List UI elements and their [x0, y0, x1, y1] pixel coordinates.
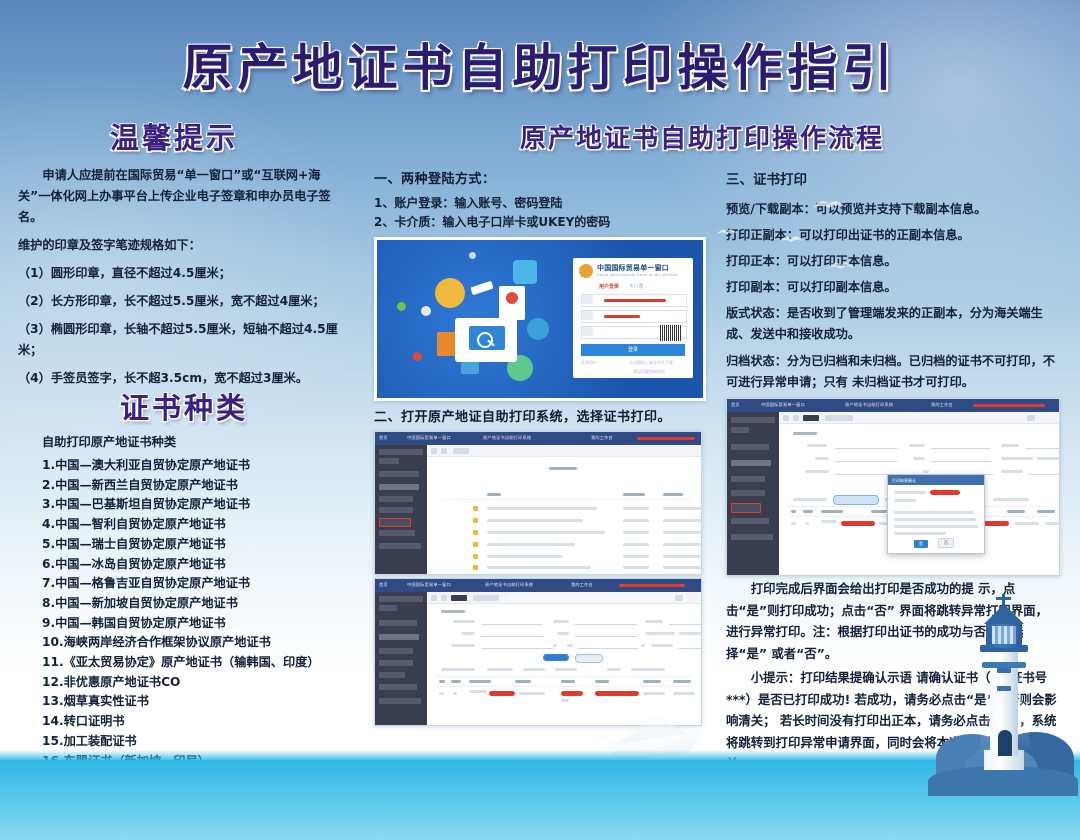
text-input[interactable] [575, 618, 637, 625]
query-button[interactable] [543, 654, 569, 661]
text-input[interactable] [575, 630, 637, 637]
lock-icon [582, 311, 593, 320]
app-content-area [427, 592, 701, 725]
row-checkbox[interactable] [791, 522, 796, 525]
column-header [663, 493, 683, 496]
screenshot-print-result-dialog[interactable]: 首页 中国国际贸易单一窗口 原产地证书自助打印系统 我的工作台 [726, 398, 1060, 576]
column-header [487, 493, 501, 496]
step-three-line: 打印正本：可以打印正本信息。 [726, 251, 1060, 272]
field-label [461, 632, 475, 635]
column-header [623, 493, 645, 496]
app-header-bar: 首页 中国国际贸易单一窗口 原产地证书自助打印系统 我的工作台 [375, 432, 701, 445]
select-input[interactable] [1029, 468, 1060, 475]
redaction-bar [930, 490, 960, 495]
table-cell-status [643, 692, 665, 695]
dialog-title-bar: 打印结果确认 [888, 475, 984, 485]
screenshot-cert-query-form[interactable]: 首页 中国国际贸易单一窗口 原产地证书自助打印系统 我的工作台 [374, 578, 702, 726]
step-three-line: 打印正副本：可以打印出证书的正副本信息。 [726, 225, 1060, 246]
list-item: 13.烟草真实性证书 [42, 692, 352, 712]
redaction-bar [637, 437, 695, 440]
login-card[interactable]: 中国国际贸易单一窗口 China International Trade Sin… [573, 258, 693, 378]
bird-icon [812, 196, 846, 212]
shield-icon [582, 327, 593, 336]
redaction-bar [561, 691, 583, 696]
notice-icon [473, 506, 478, 511]
table-cell-source [663, 507, 702, 510]
system-name-text: 原产地证书自助打印系统 [845, 402, 893, 408]
field-value [1037, 457, 1060, 460]
warm-tips-paragraph: （3）椭圆形印章，长轴不超过5.5厘米，短轴不超过4.5厘米； [18, 319, 348, 361]
action-exception-apply[interactable] [993, 498, 1029, 501]
illustration-seal [506, 292, 518, 304]
warm-tips-body: 申请人应提前在国际贸易“单一窗口”或“互联网+海关”一体化网上办事平台上传企业电… [18, 165, 348, 396]
field-label [567, 644, 573, 647]
password-field[interactable] [581, 310, 687, 323]
field-label [557, 632, 569, 635]
sidebar-item[interactable] [379, 634, 419, 640]
column-header [643, 680, 661, 683]
sidebar-item[interactable] [379, 698, 421, 704]
dialog-text [894, 491, 926, 494]
date-input[interactable] [577, 642, 639, 649]
tab-cert-print[interactable] [825, 415, 853, 421]
tab-bar[interactable] [779, 412, 1059, 424]
column-header [515, 680, 531, 683]
dialog-text [894, 532, 946, 535]
dialog-text [894, 499, 916, 502]
action-preview-download[interactable] [793, 498, 827, 501]
section-heading-cert-types: 证书种类 [120, 385, 248, 427]
poster-canvas: 原产地证书自助打印操作指引 温馨提示 申请人应提前在国际贸易“单一窗口”或“互联… [0, 0, 1080, 840]
list-item: 3.中国—巴基斯坦自贸协定原产地证书 [42, 495, 352, 515]
notice-icon [473, 518, 478, 523]
action-print-both[interactable] [833, 495, 879, 505]
field-label [1001, 444, 1019, 447]
captcha-image[interactable] [660, 325, 682, 341]
sidebar-item[interactable] [379, 620, 417, 626]
text-input[interactable] [669, 618, 702, 625]
username-field[interactable] [581, 294, 687, 307]
login-brand-title: 中国国际贸易单一窗口 [597, 263, 669, 273]
register-link[interactable]: 注册用户 [581, 360, 597, 366]
illustration-dot-red [413, 352, 422, 361]
step-three-block: 三、证书打印 预览/下载副本：可以预览并支持下载副本信息。 打印正副本：可以打印… [726, 170, 1060, 426]
tab-prev-icon[interactable] [431, 448, 437, 454]
table-cell-print-status [701, 692, 702, 695]
column-header-checkbox[interactable] [439, 680, 445, 683]
list-item: 6.中国—冰岛自贸协定原产地证书 [42, 555, 352, 575]
sidebar-item[interactable] [379, 496, 413, 502]
section-heading-warm-tips: 温馨提示 [110, 115, 238, 157]
sidebar-item-cert-print[interactable] [731, 503, 761, 513]
warm-tips-paragraph: 维护的印章及签字笔迹规格如下： [18, 235, 348, 256]
reset-button[interactable] [575, 654, 603, 663]
section-heading-workflow: 原产地证书自助打印操作流程 [520, 118, 884, 155]
text-input[interactable] [835, 455, 897, 462]
field-label [645, 632, 675, 635]
column-header [1037, 510, 1055, 513]
table-cell [561, 699, 569, 702]
step-three-heading: 三、证书打印 [726, 170, 1060, 191]
tab-bar[interactable] [427, 592, 701, 604]
tab-cert-print[interactable] [473, 595, 499, 601]
field-label [451, 644, 475, 647]
field-label [651, 644, 673, 647]
system-name-text: 原产地证书自助打印系统 [483, 435, 531, 441]
table-cell-date [623, 566, 649, 569]
app-sidebar[interactable] [727, 412, 779, 575]
warm-tips-paragraph: （2）长方形印章，长不超过5.5厘米，宽不超过4厘米； [18, 291, 348, 312]
field-label [807, 444, 827, 447]
table-cell-date [623, 555, 649, 558]
tab-home[interactable] [803, 415, 819, 421]
step-one-line: 1、账户登录：输入账号、密码登陆 [374, 194, 704, 213]
support-phone-text: 常见问题咨询电话 [633, 369, 665, 375]
table-row[interactable] [487, 555, 563, 558]
sidebar-item[interactable] [731, 417, 775, 423]
list-item: 4.中国—智利自贸协定原产地证书 [42, 515, 352, 535]
step-one-line: 2、卡介质：输入电子口岸卡或UKEY的密码 [374, 213, 704, 232]
text-input[interactable] [931, 442, 991, 449]
table-cell [469, 690, 487, 693]
login-button[interactable]: 登录 [581, 344, 685, 356]
action-more[interactable] [607, 668, 621, 671]
table-cell-archive [673, 692, 695, 695]
tab-home[interactable] [453, 448, 469, 454]
column-header [871, 510, 887, 513]
form-section-title [793, 432, 817, 435]
notice-icon [473, 554, 478, 559]
illustration-dollar [421, 306, 431, 316]
app-name-text: 中国国际贸易单一窗口 [407, 435, 451, 441]
table-cell-source [663, 519, 702, 522]
tab-home[interactable] [451, 595, 467, 601]
sidebar-item[interactable] [731, 460, 771, 466]
cert-types-items: 1.中国—澳大利亚自贸协定原产地证书 2.中国—新西兰自贸协定原产地证书 3.中… [42, 456, 352, 791]
field-label [453, 620, 475, 623]
app-content-area: 打印结果确认 是 否 [779, 412, 1059, 575]
table-cell-status [1015, 522, 1039, 525]
list-item: 12.非优惠原产地证书CO [42, 673, 352, 693]
cert-types-list: 自助打印原产地证书种类 1.中国—澳大利亚自贸协定原产地证书 2.中国—新西兰自… [42, 432, 352, 791]
table-row[interactable] [487, 531, 605, 534]
column-header-checkbox[interactable] [791, 510, 796, 513]
illustration-dot-green [397, 302, 406, 311]
tab-bar[interactable] [427, 445, 701, 457]
redaction-bar [489, 691, 515, 696]
sidebar-item[interactable] [731, 534, 773, 540]
tab-prev-icon[interactable] [431, 595, 437, 601]
warm-tips-paragraph: （1）圆形印章，直径不超过4.5厘米； [18, 263, 348, 284]
dialog-text [894, 525, 978, 528]
action-exception-apply[interactable] [631, 668, 665, 671]
list-item: 2.中国—新西兰自贸协定原产地证书 [42, 476, 352, 496]
table-cell [519, 692, 545, 695]
login-brand-subtitle: China International Trade Single Window [597, 273, 678, 277]
lighthouse-gallery-lower [982, 662, 1026, 668]
action-print-original[interactable] [523, 668, 545, 671]
lighthouse-illustration [944, 595, 1064, 800]
screenshot-single-window-login[interactable]: 中国国际贸易单一窗口 China International Trade Sin… [374, 237, 706, 401]
column-header [803, 510, 813, 513]
text-input[interactable] [481, 618, 543, 625]
column-header [595, 680, 609, 683]
table-cell [821, 520, 837, 523]
screenshot-cert-notice-list[interactable]: 首页 中国国际贸易单一窗口 原产地证书自助打印系统 我的工作台 [374, 431, 702, 575]
help-links[interactable]: 忘记密码 | 安全控件下载 [629, 360, 673, 366]
list-item: 8.中国—新加坡自贸协定原产地证书 [42, 594, 352, 614]
lighthouse-door [998, 730, 1012, 756]
notice-icon [473, 530, 478, 535]
sidebar-item[interactable] [379, 605, 397, 611]
field-label [923, 470, 929, 473]
row-index [453, 692, 457, 695]
captcha-field[interactable] [581, 326, 687, 339]
field-label [1001, 457, 1033, 460]
sidebar-item[interactable] [731, 427, 749, 433]
tab-close-icon[interactable] [1027, 415, 1035, 421]
table-cell-source [663, 566, 702, 569]
table-cell-date [623, 519, 649, 522]
step-three-line: 打印副本：可以打印副本信息。 [726, 277, 1060, 298]
lighthouse-roof [984, 604, 1024, 624]
app-header-bar: 首页 中国国际贸易单一窗口 原产地证书自助打印系统 我的工作台 [375, 579, 701, 592]
system-name-text: 原产地证书自助打印系统 [485, 582, 533, 588]
sidebar-item[interactable] [379, 684, 417, 690]
tab-account-login[interactable]: 用户登录 [599, 284, 619, 290]
bird-icon [826, 258, 856, 273]
field-label [815, 457, 829, 460]
poster-title: 原产地证书自助打印操作指引 [0, 28, 1080, 100]
app-name-text: 中国国际贸易单一窗口 [761, 402, 805, 408]
sidebar-item[interactable] [379, 530, 415, 536]
form-section-title [441, 610, 465, 613]
login-tabs[interactable]: 用户登录 卡介质 [599, 283, 644, 290]
print-result-dialog[interactable]: 打印结果确认 是 否 [887, 474, 985, 554]
field-label [1001, 470, 1023, 473]
sidebar-item[interactable] [731, 490, 765, 496]
date-input[interactable] [481, 642, 553, 649]
illustration-doc [513, 260, 537, 284]
step-three-line: 归档状态：分为已归档和未归档。已归档的证书不可打印，不可进行异常申请；只有 未归… [726, 351, 1060, 393]
step-one-heading: 一、两种登陆方式： [374, 168, 704, 187]
column-header [561, 680, 575, 683]
step-two-heading: 二、打开原产地证自助打印系统，选择证书打印。 [374, 406, 704, 425]
table-cell-archive [1045, 522, 1060, 525]
table-row[interactable] [487, 543, 575, 546]
step-three-line: 版式状态：是否收到了管理端发来的正副本，分为海关端生成、发送中和接收成功。 [726, 303, 1060, 345]
illustration-coin [435, 278, 465, 308]
table-row[interactable] [487, 566, 591, 569]
step-three-line: 预览/下载副本：可以预览并支持下载副本信息。 [726, 199, 1060, 220]
sidebar-item[interactable] [379, 596, 423, 602]
calendar-icon[interactable] [553, 644, 557, 647]
bird-icon [716, 226, 738, 237]
app-sidebar[interactable] [375, 445, 427, 574]
sidebar-item[interactable] [379, 471, 419, 477]
dialog-no-button[interactable]: 否 [938, 538, 954, 548]
illustration-chart [527, 318, 549, 340]
dialog-title: 打印结果确认 [892, 478, 916, 484]
sidebar-item[interactable] [379, 449, 423, 455]
app-name-text: 中国国际贸易单一窗口 [407, 582, 451, 588]
app-sidebar[interactable] [375, 592, 427, 725]
field-label [909, 444, 925, 447]
field-label [805, 470, 829, 473]
list-item: 1.中国—澳大利亚自贸协定原产地证书 [42, 456, 352, 476]
step-one-block: 一、两种登陆方式： 1、账户登录：输入账号、密码登陆 2、卡介质：输入电子口岸卡… [374, 168, 704, 232]
column-header [701, 680, 702, 683]
text-input[interactable] [931, 455, 991, 462]
rock [928, 766, 1078, 796]
row-index [805, 522, 809, 525]
sidebar-item[interactable] [379, 458, 399, 464]
sidebar-item-cert-print[interactable] [379, 672, 405, 678]
row-checkbox[interactable] [439, 692, 444, 695]
column-header [821, 510, 843, 513]
dialog-text [894, 511, 974, 514]
table-cell-source [663, 531, 702, 534]
lighthouse-spire-cross [996, 597, 1011, 600]
select-input[interactable] [679, 642, 702, 649]
action-print-copy[interactable] [555, 668, 577, 671]
redaction-bar [604, 299, 666, 302]
app-header-bar: 首页 中国国际贸易单一窗口 原产地证书自助打印系统 我的工作台 [727, 399, 1059, 412]
table-cell-date [623, 531, 649, 534]
table-cell-source [663, 543, 702, 546]
field-label [645, 620, 663, 623]
search-icon [477, 332, 493, 348]
tab-prev-icon[interactable] [783, 415, 789, 421]
notice-icon [473, 565, 478, 570]
step-two-block: 二、打开原产地证自助打印系统，选择证书打印。 [374, 406, 704, 432]
dialog-text [894, 518, 976, 521]
sea-band [0, 760, 1080, 840]
tab-next-icon[interactable] [441, 595, 447, 601]
sidebar-item[interactable] [379, 507, 413, 513]
sidebar-item[interactable] [731, 476, 765, 482]
field-label [913, 457, 925, 460]
user-icon [582, 295, 593, 304]
tab-card-login[interactable]: 卡介质 [629, 284, 644, 290]
text-input[interactable] [1025, 442, 1060, 449]
sidebar-item[interactable] [379, 648, 413, 654]
dialog-yes-button[interactable]: 是 [914, 540, 928, 548]
sidebar-item[interactable] [379, 660, 413, 666]
table-row[interactable] [487, 507, 597, 510]
redaction-bar [595, 691, 639, 696]
bird-icon [778, 232, 804, 246]
cert-types-lead: 自助打印原产地证书种类 [42, 432, 352, 450]
redaction-bar [841, 521, 875, 526]
tab-next-icon[interactable] [441, 448, 447, 454]
column-header [469, 680, 491, 683]
text-input[interactable] [835, 442, 897, 449]
calendar-icon[interactable] [641, 644, 645, 647]
notice-icon [473, 542, 478, 547]
table-cell-source [663, 555, 702, 558]
table-row[interactable] [487, 519, 583, 522]
list-item: 10.海峡两岸经济合作框架协议原产地证书 [42, 633, 352, 653]
tab-next-icon[interactable] [793, 415, 799, 421]
sidebar-item[interactable] [731, 518, 769, 524]
text-input[interactable] [481, 630, 543, 637]
tab-filler [507, 595, 687, 601]
tab-close-icon[interactable] [675, 595, 683, 601]
field-label [553, 620, 569, 623]
table-cell-date [623, 543, 649, 546]
column-header [673, 680, 691, 683]
single-window-logo-icon [579, 264, 593, 278]
redaction-bar [973, 404, 1045, 407]
sidebar-item[interactable] [379, 543, 421, 549]
action-print-both[interactable] [487, 668, 513, 671]
action-preview-download[interactable] [441, 668, 475, 671]
redaction-bar [604, 315, 640, 318]
warm-tips-paragraph: 申请人应提前在国际贸易“单一窗口”或“互联网+海关”一体化网上办事平台上传企业电… [18, 165, 348, 228]
sidebar-item-cert-print[interactable] [379, 518, 411, 527]
list-item: 7.中国—格鲁吉亚自贸协定原产地证书 [42, 574, 352, 594]
list-item: 5.中国—瑞士自贸协定原产地证书 [42, 535, 352, 555]
redaction-bar [619, 584, 685, 587]
sidebar-item[interactable] [379, 484, 419, 490]
lighthouse-lamp-glass [992, 626, 1016, 644]
column-header [1007, 510, 1025, 513]
panel-title [549, 467, 577, 470]
list-item: 15.加工装配证书 [42, 732, 352, 752]
sea-horizon [0, 750, 1080, 760]
table-cell-date [623, 507, 649, 510]
column-header [451, 680, 461, 683]
field-value [679, 632, 702, 635]
sidebar-item[interactable] [731, 444, 769, 450]
list-item: 14.转口证明书 [42, 712, 352, 732]
list-item: 9.中国—韩国自贸协定原产地证书 [42, 614, 352, 634]
app-content-area [427, 445, 701, 574]
list-item: 11.《亚太贸易协定》原产地证书（输韩国、印度） [42, 653, 352, 673]
illustration-dot-grey [469, 252, 476, 259]
